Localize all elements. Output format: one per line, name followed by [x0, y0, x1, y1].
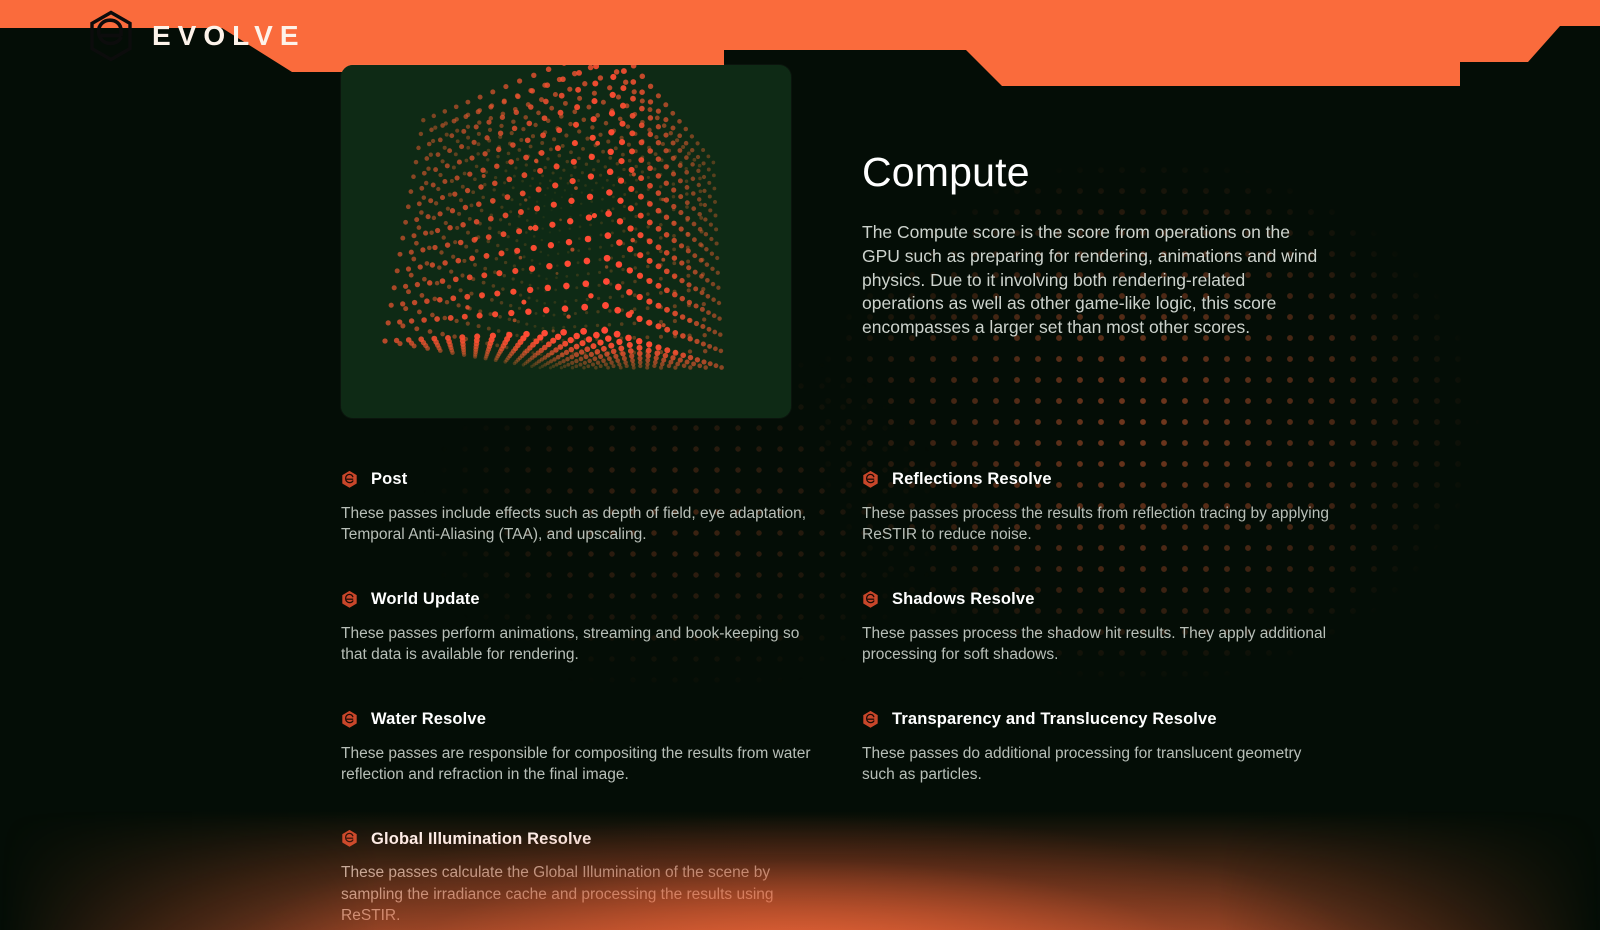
- hero-text-block: Compute The Compute score is the score f…: [862, 150, 1322, 340]
- feature-column-right: Reflections ResolveThese passes process …: [862, 470, 1332, 785]
- feature-item-header: Transparency and Translucency Resolve: [862, 710, 1332, 729]
- feature-list-section: PostThese passes include effects such as…: [0, 470, 1600, 890]
- feature-item-description: These passes do additional processing fo…: [862, 743, 1332, 786]
- feature-item-description: These passes are responsible for composi…: [341, 743, 811, 786]
- feature-item-description: These passes process the results from re…: [862, 503, 1332, 546]
- feature-item-title: Water Resolve: [371, 711, 486, 728]
- feature-item-title: Transparency and Translucency Resolve: [892, 711, 1217, 728]
- feature-column-left: PostThese passes include effects such as…: [341, 470, 811, 926]
- feature-item-description: These passes process the shadow hit resu…: [862, 623, 1332, 666]
- feature-item-description: These passes perform animations, streami…: [341, 623, 811, 666]
- hero-description: The Compute score is the score from oper…: [862, 221, 1322, 340]
- feature-item: Shadows ResolveThese passes process the …: [862, 590, 1332, 666]
- feature-item: World UpdateThese passes perform animati…: [341, 590, 811, 666]
- hero-section: Compute The Compute score is the score f…: [0, 0, 1600, 430]
- page-root: EVOLVE Compute The Compute score is the …: [0, 0, 1600, 930]
- hexagon-e-icon: [341, 470, 358, 489]
- feature-item-title: Global Illumination Resolve: [371, 831, 591, 848]
- feature-item: Reflections ResolveThese passes process …: [862, 470, 1332, 546]
- feature-item-description: These passes include effects such as dep…: [341, 503, 811, 546]
- feature-item-header: Post: [341, 470, 811, 489]
- hexagon-e-icon: [862, 590, 879, 609]
- feature-item-title: World Update: [371, 591, 480, 608]
- feature-item: Global Illumination ResolveThese passes …: [341, 829, 811, 926]
- feature-item-header: World Update: [341, 590, 811, 609]
- feature-item-header: Shadows Resolve: [862, 590, 1332, 609]
- feature-item: PostThese passes include effects such as…: [341, 470, 811, 546]
- hexagon-e-icon: [341, 710, 358, 729]
- feature-item-header: Global Illumination Resolve: [341, 829, 811, 848]
- hexagon-e-icon: [862, 710, 879, 729]
- hero-media-card[interactable]: [341, 65, 791, 418]
- particle-cube-visualization: [341, 65, 791, 418]
- feature-item-title: Shadows Resolve: [892, 591, 1035, 608]
- feature-item-description: These passes calculate the Global Illumi…: [341, 862, 811, 926]
- hexagon-e-icon: [341, 590, 358, 609]
- hexagon-e-icon: [341, 829, 358, 848]
- feature-item-title: Reflections Resolve: [892, 471, 1052, 488]
- hexagon-e-icon: [862, 470, 879, 489]
- feature-item-header: Water Resolve: [341, 710, 811, 729]
- feature-item-header: Reflections Resolve: [862, 470, 1332, 489]
- feature-item: Transparency and Translucency ResolveThe…: [862, 710, 1332, 786]
- feature-item-title: Post: [371, 471, 407, 488]
- feature-item: Water ResolveThese passes are responsibl…: [341, 710, 811, 786]
- page-title: Compute: [862, 150, 1322, 195]
